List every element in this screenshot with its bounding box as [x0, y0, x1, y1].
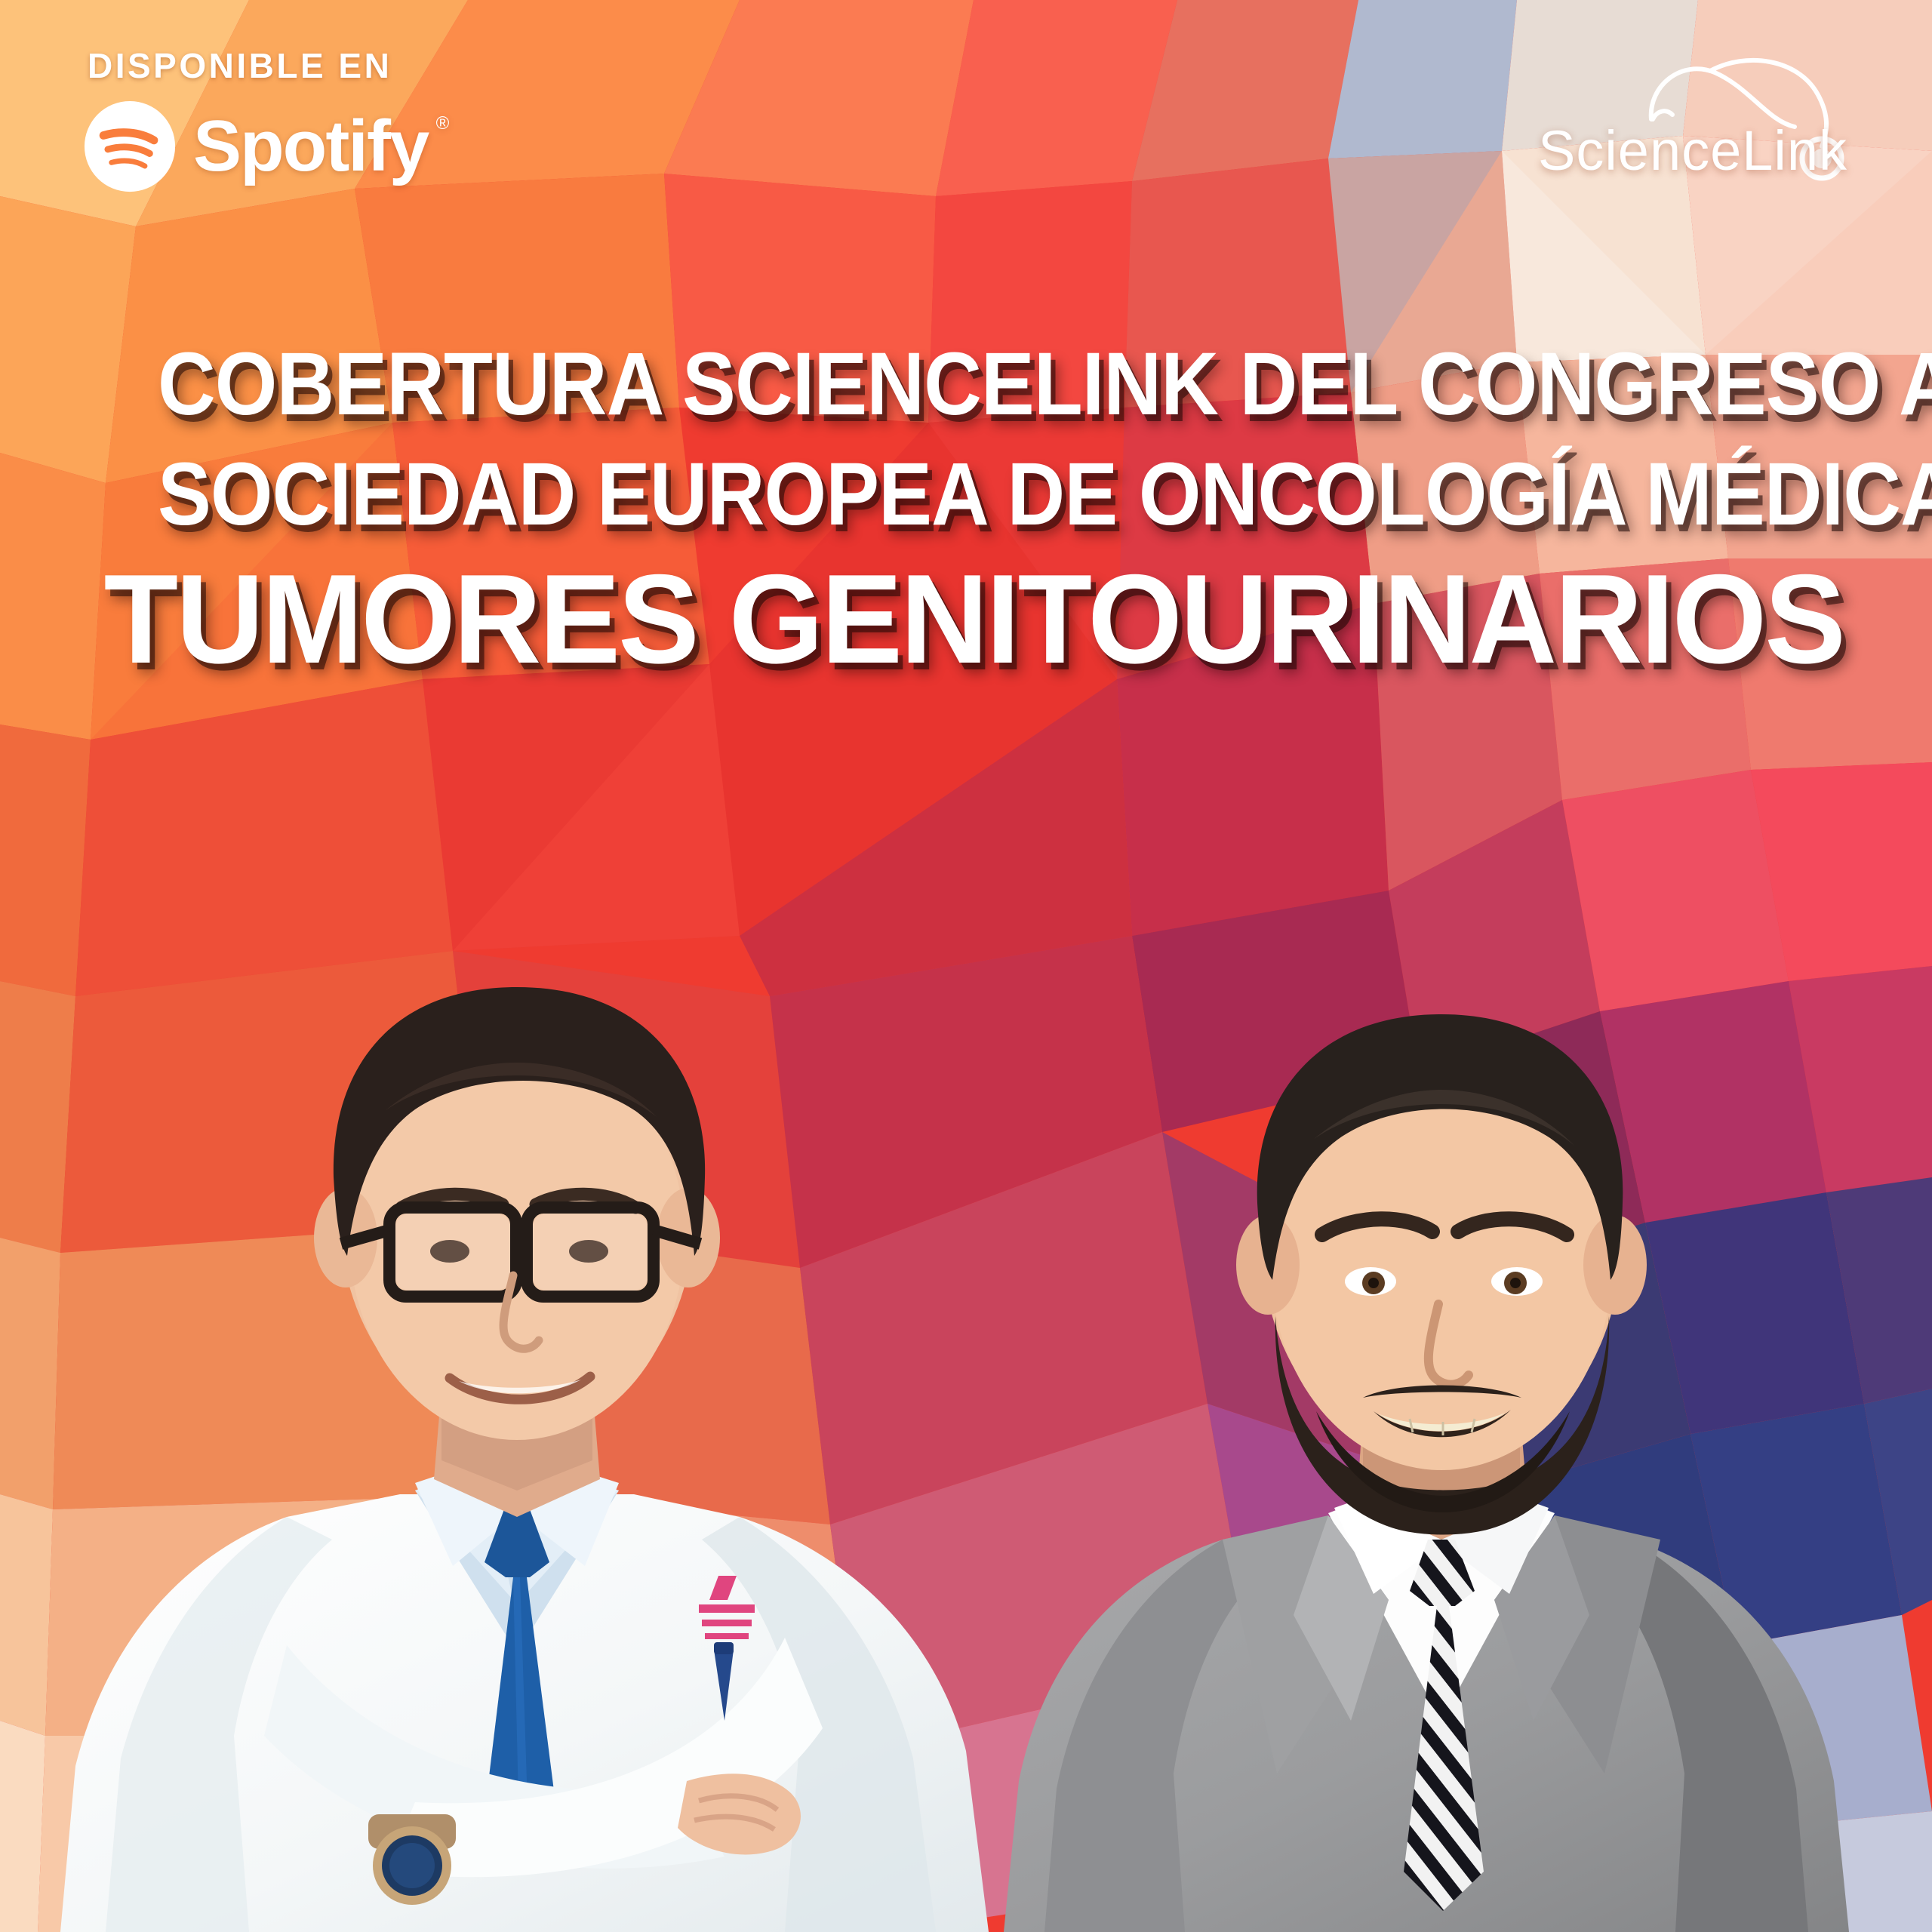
registered-mark-icon: ® [436, 115, 448, 133]
speaker-left-photo [60, 755, 1034, 1932]
title-block: COBERTURA SCIENCELINK DEL CONGRESO ANUAL… [0, 340, 1932, 682]
sciencelink-logo[interactable]: ScienceLink [1538, 65, 1863, 201]
spotify-badge[interactable]: DISPONIBLE EN Spotify ® [83, 45, 475, 193]
spotify-logo-row[interactable]: Spotify ® [83, 100, 475, 193]
title-line-2: SOCIEDAD EUROPEA DE ONCOLOGÍA MÉDICA [158, 450, 1774, 539]
speaker-right-photo [996, 815, 1887, 1932]
title-line-3: TUMORES GENITOURINARIOS [104, 555, 1829, 682]
available-on-label: DISPONIBLE EN [88, 45, 475, 86]
spotify-name: Spotify [193, 106, 428, 186]
spotify-icon [83, 100, 177, 193]
poster-canvas: DISPONIBLE EN Spotify ® Science [0, 0, 1932, 1932]
spotify-wordmark: Spotify ® [193, 110, 428, 183]
title-line-1: COBERTURA SCIENCELINK DEL CONGRESO ANUAL… [158, 340, 1774, 429]
sciencelink-wordmark: ScienceLink [1538, 118, 1847, 183]
